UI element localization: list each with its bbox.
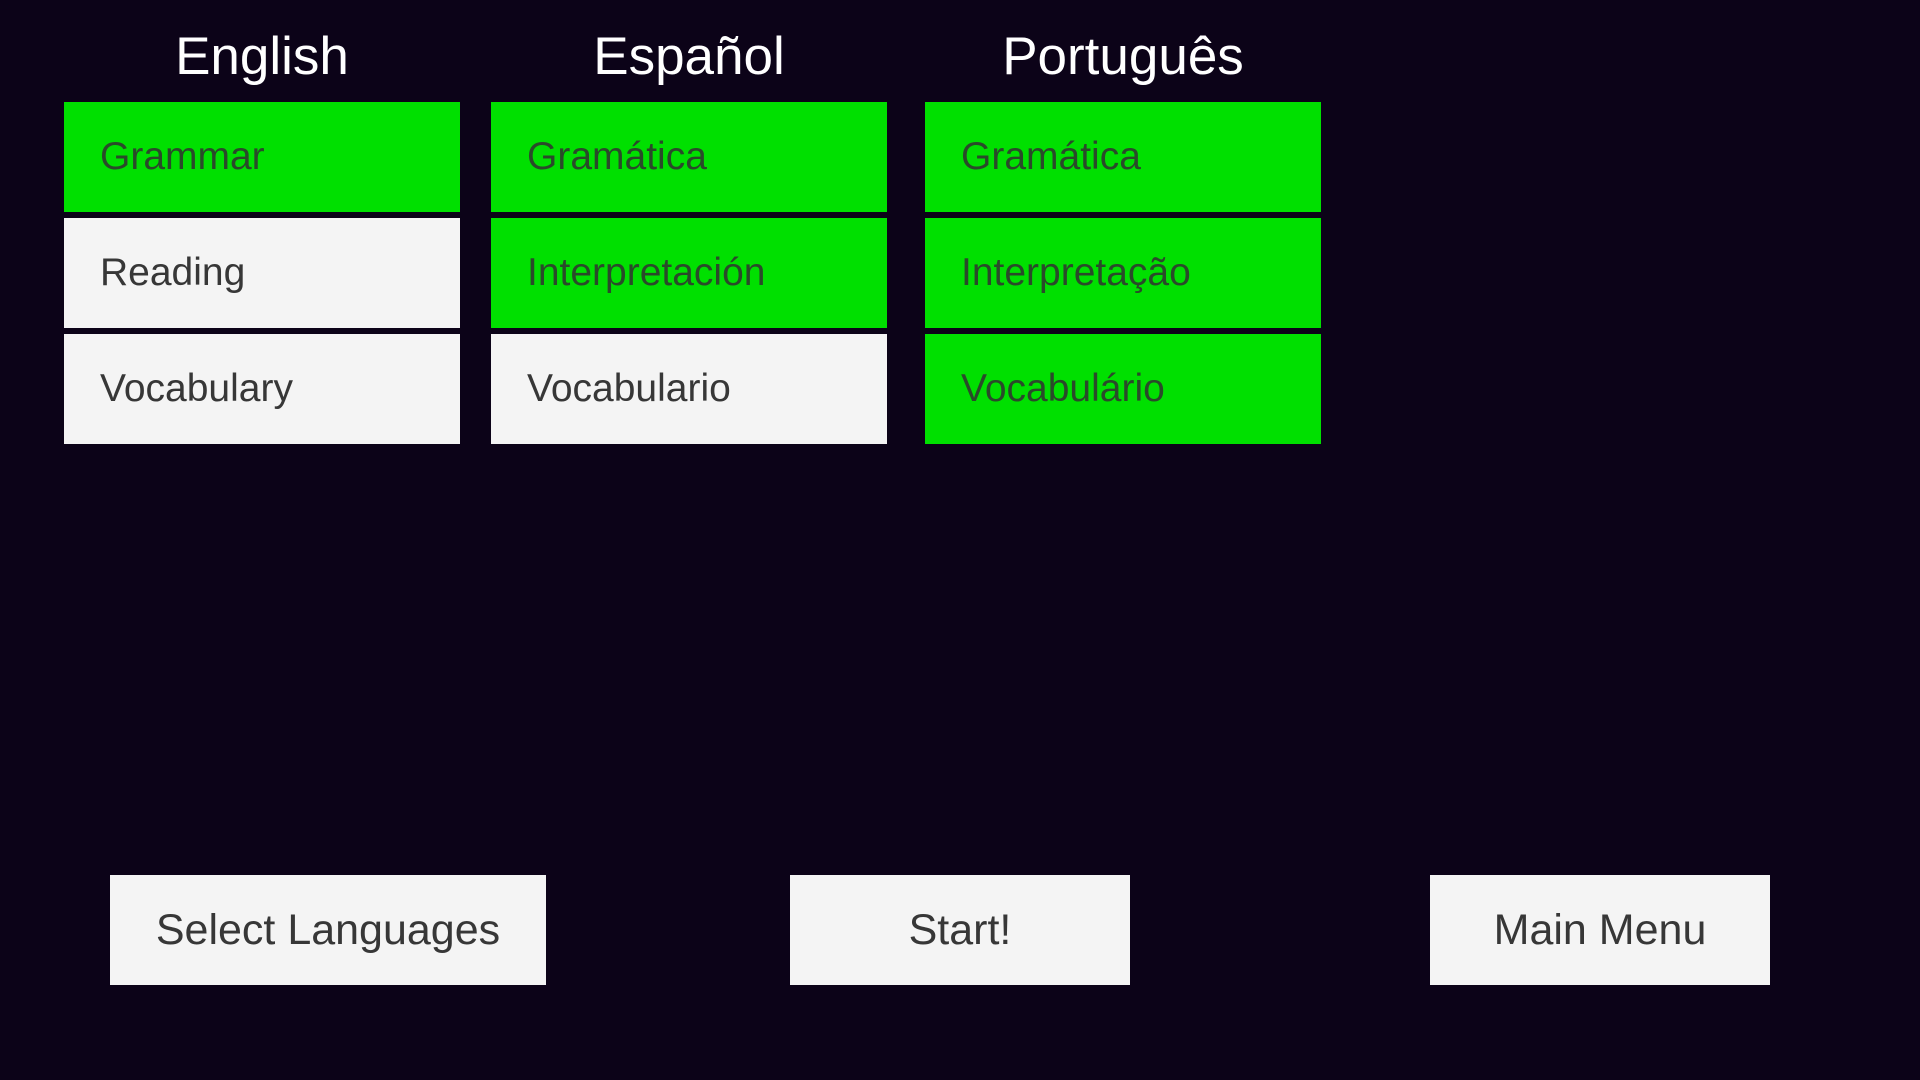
action-button-bar: Select LanguagesStart!Main Menu — [0, 875, 1920, 987]
category-button-gramatica[interactable]: Gramática — [491, 102, 887, 212]
category-button-interpretacion[interactable]: Interpretación — [491, 218, 887, 328]
category-button-vocabulario[interactable]: Vocabulario — [491, 334, 887, 444]
main-menu-button[interactable]: Main Menu — [1430, 875, 1770, 985]
language-columns: EnglishGrammarReadingVocabularyEspañolGr… — [0, 0, 1920, 500]
start-button[interactable]: Start! — [790, 875, 1130, 985]
language-column-espanol: EspañolGramáticaInterpretaciónVocabulari… — [491, 0, 887, 450]
language-column-portugues: PortuguêsGramáticaInterpretaçãoVocabulár… — [925, 0, 1321, 450]
category-list: GramáticaInterpretaçãoVocabulário — [925, 102, 1321, 444]
language-title: Español — [491, 0, 887, 70]
select-languages-button[interactable]: Select Languages — [110, 875, 546, 985]
language-title: English — [64, 0, 460, 70]
category-list: GrammarReadingVocabulary — [64, 102, 460, 444]
category-button-grammar[interactable]: Grammar — [64, 102, 460, 212]
category-button-reading[interactable]: Reading — [64, 218, 460, 328]
category-list: GramáticaInterpretaciónVocabulario — [491, 102, 887, 444]
language-title: Português — [925, 0, 1321, 70]
category-button-gramatica[interactable]: Gramática — [925, 102, 1321, 212]
category-button-vocabulario[interactable]: Vocabulário — [925, 334, 1321, 444]
category-button-interpretacao[interactable]: Interpretação — [925, 218, 1321, 328]
language-column-english: EnglishGrammarReadingVocabulary — [64, 0, 460, 450]
category-button-vocabulary[interactable]: Vocabulary — [64, 334, 460, 444]
